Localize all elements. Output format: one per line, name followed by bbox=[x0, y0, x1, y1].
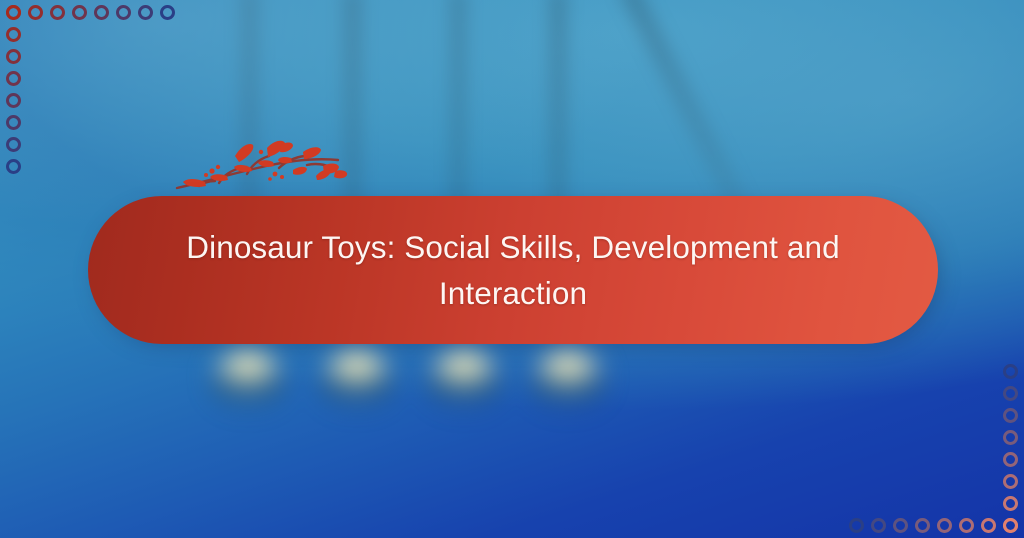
slide-title-line-2: Interaction bbox=[439, 275, 587, 311]
lamp-shade bbox=[529, 378, 607, 412]
floral-sprig-icon bbox=[175, 138, 350, 200]
decorative-dot bbox=[116, 5, 131, 20]
decorative-dot bbox=[6, 49, 21, 64]
title-banner: Dinosaur Toys: Social Skills, Developmen… bbox=[88, 196, 938, 344]
decorative-dot bbox=[1003, 408, 1018, 423]
lamp-bulb-glow bbox=[314, 344, 400, 406]
dot-pattern-bottom-right-column bbox=[1003, 364, 1018, 533]
decorative-dot bbox=[28, 5, 43, 20]
decorative-dot bbox=[1003, 430, 1018, 445]
decorative-dot bbox=[1003, 364, 1018, 379]
decorative-dot bbox=[6, 71, 21, 86]
decorative-dot bbox=[1003, 496, 1018, 511]
slide-title: Dinosaur Toys: Social Skills, Developmen… bbox=[163, 224, 863, 316]
decorative-dot bbox=[160, 5, 175, 20]
decorative-dot bbox=[50, 5, 65, 20]
dot-pattern-bottom-right-row bbox=[849, 518, 1018, 533]
decorative-dot bbox=[981, 518, 996, 533]
decorative-dot bbox=[72, 5, 87, 20]
decorative-dot bbox=[6, 93, 21, 108]
decorative-dot bbox=[6, 137, 21, 152]
lamp-bulbs-decoration bbox=[0, 336, 1024, 446]
decorative-dot bbox=[6, 27, 21, 42]
decorative-dot bbox=[959, 518, 974, 533]
decorative-dot bbox=[893, 518, 908, 533]
slide-title-line-1: Dinosaur Toys: Social Skills, Developmen… bbox=[186, 229, 839, 265]
lamp-bulb-glow bbox=[421, 344, 507, 406]
decorative-dot bbox=[849, 518, 864, 533]
lamp-bulb-glow bbox=[205, 344, 291, 406]
lamp-shade bbox=[209, 378, 287, 412]
decorative-dot bbox=[1003, 474, 1018, 489]
decorative-dot bbox=[1003, 386, 1018, 401]
slide-canvas: Dinosaur Toys: Social Skills, Developmen… bbox=[0, 0, 1024, 538]
decorative-dot bbox=[1003, 452, 1018, 467]
decorative-dot bbox=[138, 5, 153, 20]
decorative-dot bbox=[937, 518, 952, 533]
decorative-dot bbox=[6, 159, 21, 174]
decorative-dot bbox=[6, 5, 21, 20]
dot-pattern-top-left-row bbox=[6, 5, 175, 20]
decorative-dot bbox=[94, 5, 109, 20]
decorative-dot bbox=[1003, 518, 1018, 533]
lamp-bulb-glow bbox=[525, 344, 611, 406]
decorative-dot bbox=[6, 115, 21, 130]
lamp-shade bbox=[318, 378, 396, 412]
lamp-shade bbox=[425, 378, 503, 412]
decorative-dot bbox=[915, 518, 930, 533]
dot-pattern-top-left-column bbox=[6, 5, 21, 174]
decorative-dot bbox=[871, 518, 886, 533]
